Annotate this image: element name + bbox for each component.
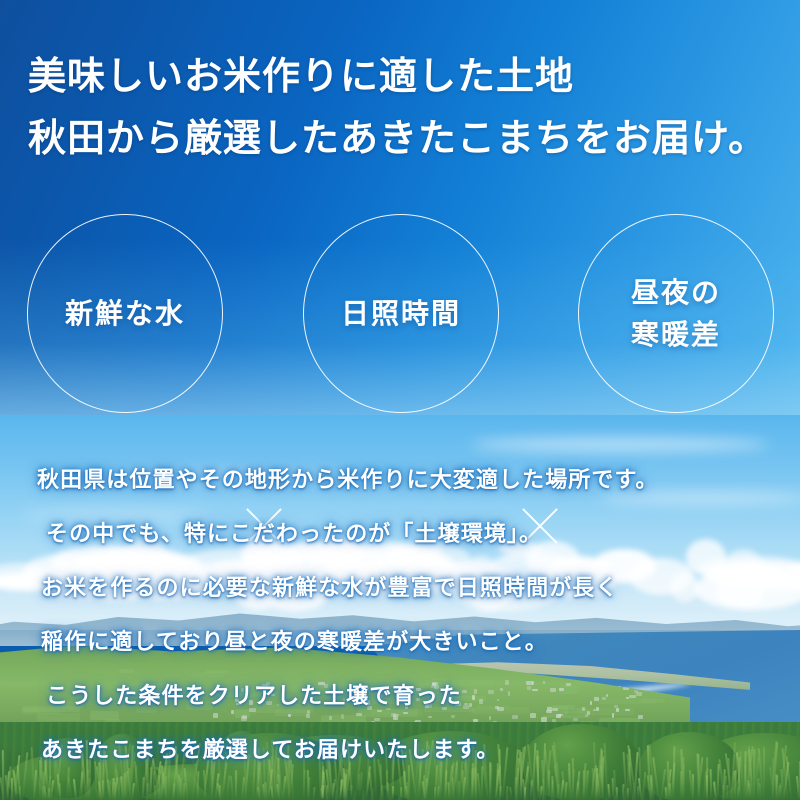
cloud-wisp [470, 438, 770, 451]
grass-blade [381, 785, 383, 800]
grass-blade [621, 784, 624, 800]
grass-blade [488, 762, 490, 800]
feature-circle-fresh-water: 新鮮な水 [27, 214, 223, 413]
feature-circle-label: 昼夜の 寒暖差 [631, 272, 721, 356]
grass-blade [392, 786, 394, 800]
grass-blade [153, 771, 155, 800]
feature-circle-temperature-range: 昼夜の 寒暖差 [578, 214, 774, 413]
grass-blade [158, 775, 160, 800]
body-line: その中でも、特にこだわったのが「土壌環境」。 [46, 516, 777, 548]
feature-circle-label: 新鮮な水 [65, 293, 185, 335]
body-line: お米を作るのに必要な新鮮な水が豊富で日照時間が長く [41, 570, 777, 602]
grass-blade [2, 750, 4, 800]
headline-line-1: 美味しいお米作りに適した土地 [28, 46, 778, 108]
grass-blade [611, 778, 614, 800]
feature-circles-row: 新鮮な水 日照時間 昼夜の 寒暖差 [0, 214, 800, 414]
body-line: こうした条件をクリアした土壌で育った [46, 678, 777, 710]
headline-line-2: 秋田から厳選したあきたこまちをお届け。 [28, 108, 778, 170]
grass-blade [527, 762, 529, 800]
feature-circle-sunshine-hours: 日照時間 [303, 214, 499, 413]
promo-banner: 美味しいお米作りに適した土地 秋田から厳選したあきたこまちをお届け。 新鮮な水 … [0, 0, 800, 800]
feature-circle-label: 日照時間 [341, 293, 461, 335]
headline: 美味しいお米作りに適した土地 秋田から厳選したあきたこまちをお届け。 [28, 46, 778, 170]
grass-blade [709, 769, 712, 800]
body-line: 秋田県は位置やその地形から米作りに大変適した場所です。 [37, 462, 777, 494]
body-copy: 秋田県は位置やその地形から米作りに大変適した場所です。 その中でも、特にこだわっ… [37, 462, 777, 764]
grass-blade [480, 766, 483, 800]
grass-blade [307, 770, 309, 800]
grass-blade [713, 781, 716, 800]
body-line: あきたこまちを厳選してお届けいたします。 [41, 732, 777, 764]
grass-blade [583, 770, 585, 800]
paddy-patch [6, 681, 34, 687]
body-line: 稲作に適しており昼と夜の寒暖差が大きいこと。 [41, 624, 777, 656]
